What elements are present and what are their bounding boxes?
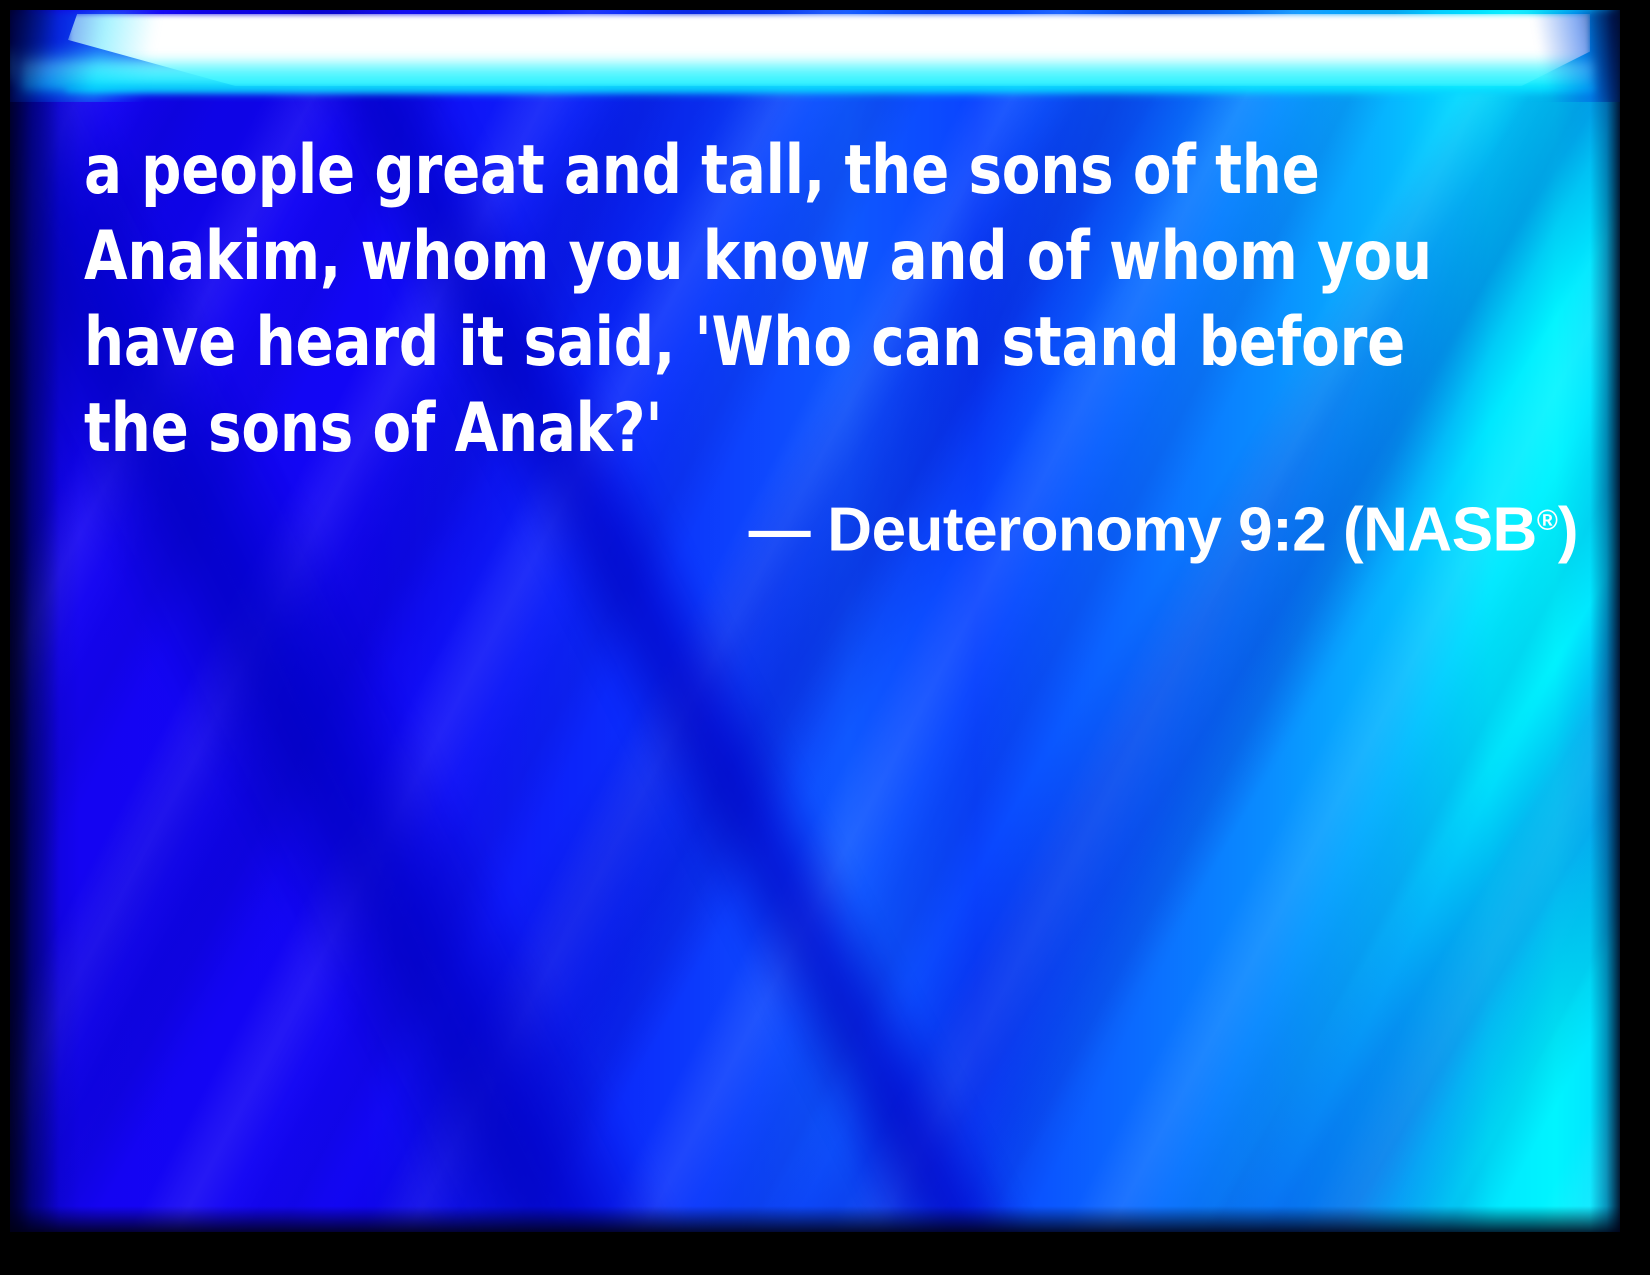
attribution-em-dash: — — [749, 496, 811, 565]
attribution-open-paren: ( — [1343, 496, 1363, 565]
verse-slide: a people great and tall, the sons of the… — [0, 0, 1650, 1275]
header-band-cyan-core — [20, 56, 1594, 92]
registered-trademark-icon: ® — [1537, 505, 1558, 537]
slide-canvas: a people great and tall, the sons of the… — [10, 10, 1620, 1232]
verse-line-1: a people great and tall, the sons of the — [84, 128, 1464, 214]
header-band-right-fade — [1530, 10, 1620, 102]
attribution-book: Deuteronomy — [827, 496, 1221, 565]
header-light-band — [10, 10, 1620, 102]
attribution-translation: NASB — [1363, 496, 1537, 565]
right-edge-vignette — [1590, 10, 1620, 1232]
attribution-close-paren: ) — [1558, 496, 1578, 565]
bottom-edge-vignette — [10, 1206, 1620, 1232]
attribution-reference: 9:2 — [1238, 496, 1326, 565]
header-band-cyan-glow — [10, 10, 1620, 102]
verse-line-4: the sons of Anak?' — [84, 386, 1464, 472]
header-band-left-fade — [10, 10, 180, 102]
verse-line-3: have heard it said, 'Who can stand befor… — [84, 300, 1464, 386]
verse-text-block: a people great and tall, the sons of the… — [84, 128, 1584, 574]
verse-attribution: — Deuteronomy 9:2 (NASB®) — [84, 478, 1584, 574]
left-edge-vignette — [10, 10, 80, 1232]
verse-line-2: Anakim, whom you know and of whom you — [84, 214, 1464, 300]
header-band-bottom-edge — [66, 86, 1594, 94]
header-band-white-core — [68, 14, 1590, 86]
